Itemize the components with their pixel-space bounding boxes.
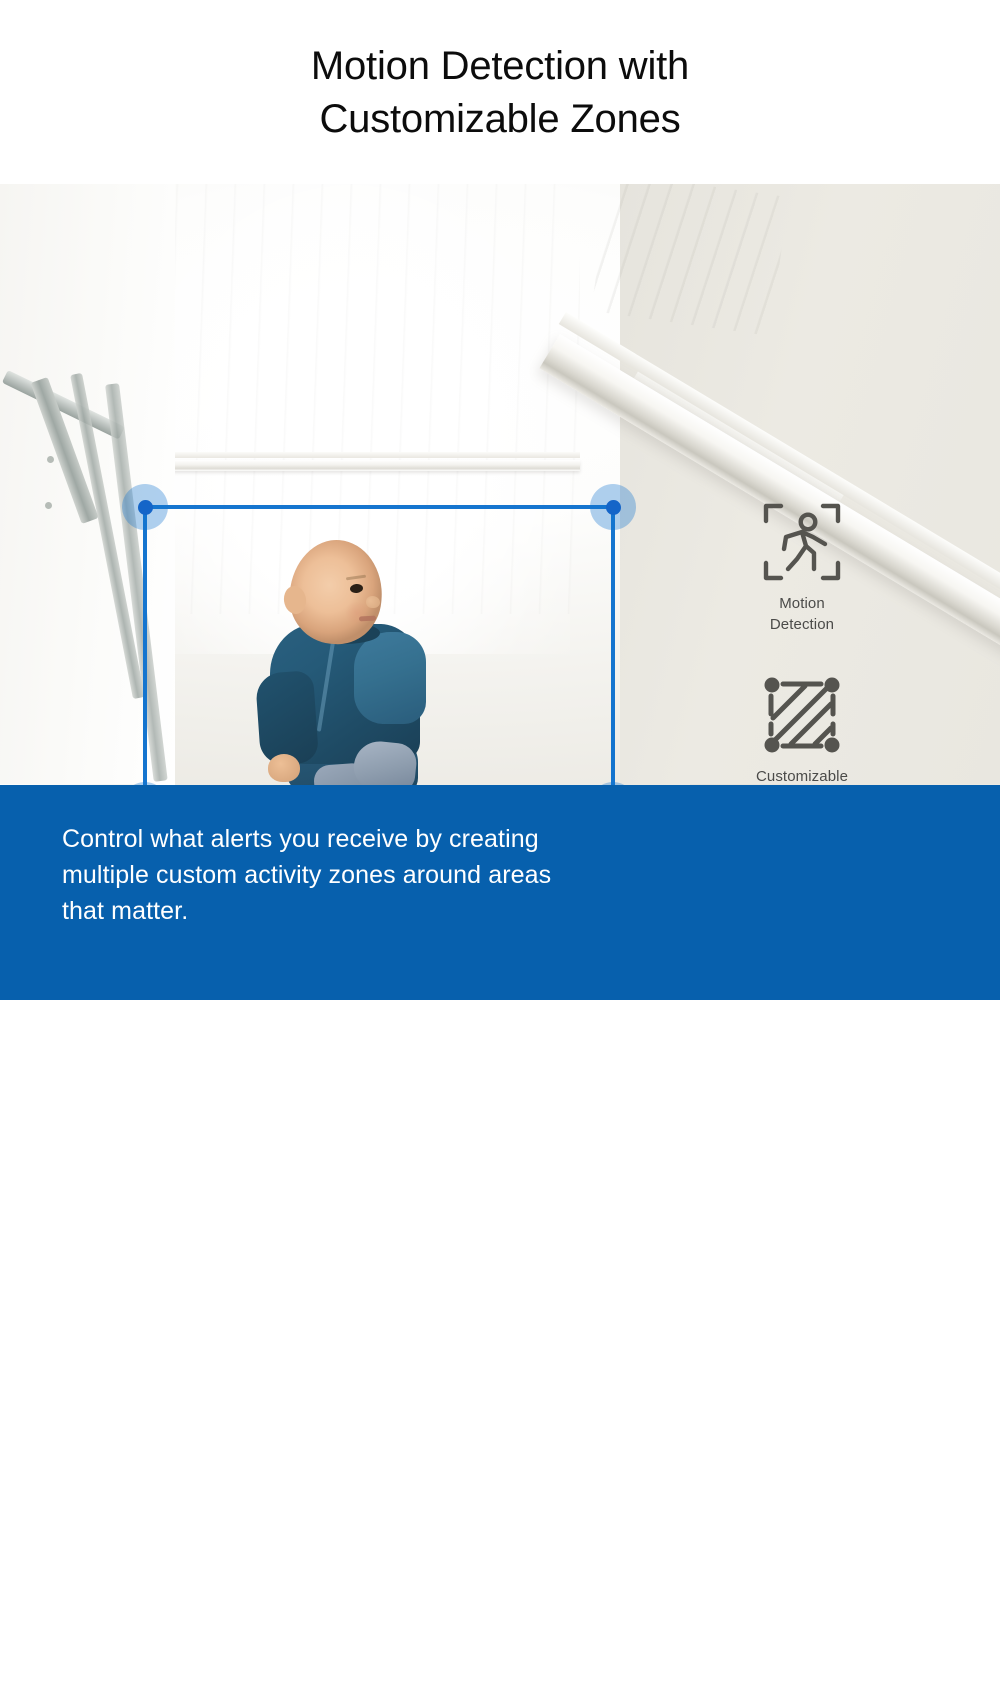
chair-rail-upper: [150, 452, 580, 458]
zone-handle-top-left[interactable]: [122, 484, 168, 530]
promo-banner: Motion Detection with Customizable Zones: [0, 0, 1000, 1000]
hatched-zone-square-icon: [761, 674, 843, 756]
feature-motion-label: Motion Detection: [702, 594, 902, 635]
photo-stage: Motion Detection: [0, 184, 1000, 785]
header-band: Motion Detection with Customizable Zones: [0, 0, 1000, 184]
footer-band: Control what alerts you receive by creat…: [0, 785, 1000, 1000]
zone-handle-dot: [606, 500, 621, 515]
feature-zones-label: Customizable Activity Zones: [702, 767, 902, 785]
right-wall-panelling: [591, 184, 789, 336]
page-title: Motion Detection with Customizable Zones: [311, 40, 689, 146]
activity-zone-rectangle[interactable]: [145, 507, 613, 785]
tapo-logo: [788, 1641, 948, 1703]
banister-screw-lower: [45, 502, 52, 509]
feature-motion-detection: Motion Detection: [702, 501, 902, 635]
banister-screw-upper: [47, 456, 54, 463]
zone-edge-top[interactable]: [145, 505, 613, 509]
zone-edge-left[interactable]: [143, 507, 147, 785]
feature-customizable-zones: Customizable Activity Zones: [702, 674, 902, 785]
zone-handle-top-right[interactable]: [590, 484, 636, 530]
zone-handle-dot: [138, 500, 153, 515]
footer-caption: Control what alerts you receive by creat…: [62, 821, 682, 929]
chair-rail: [150, 460, 580, 471]
zone-edge-right[interactable]: [611, 507, 615, 785]
running-person-in-brackets-icon: [761, 501, 843, 583]
